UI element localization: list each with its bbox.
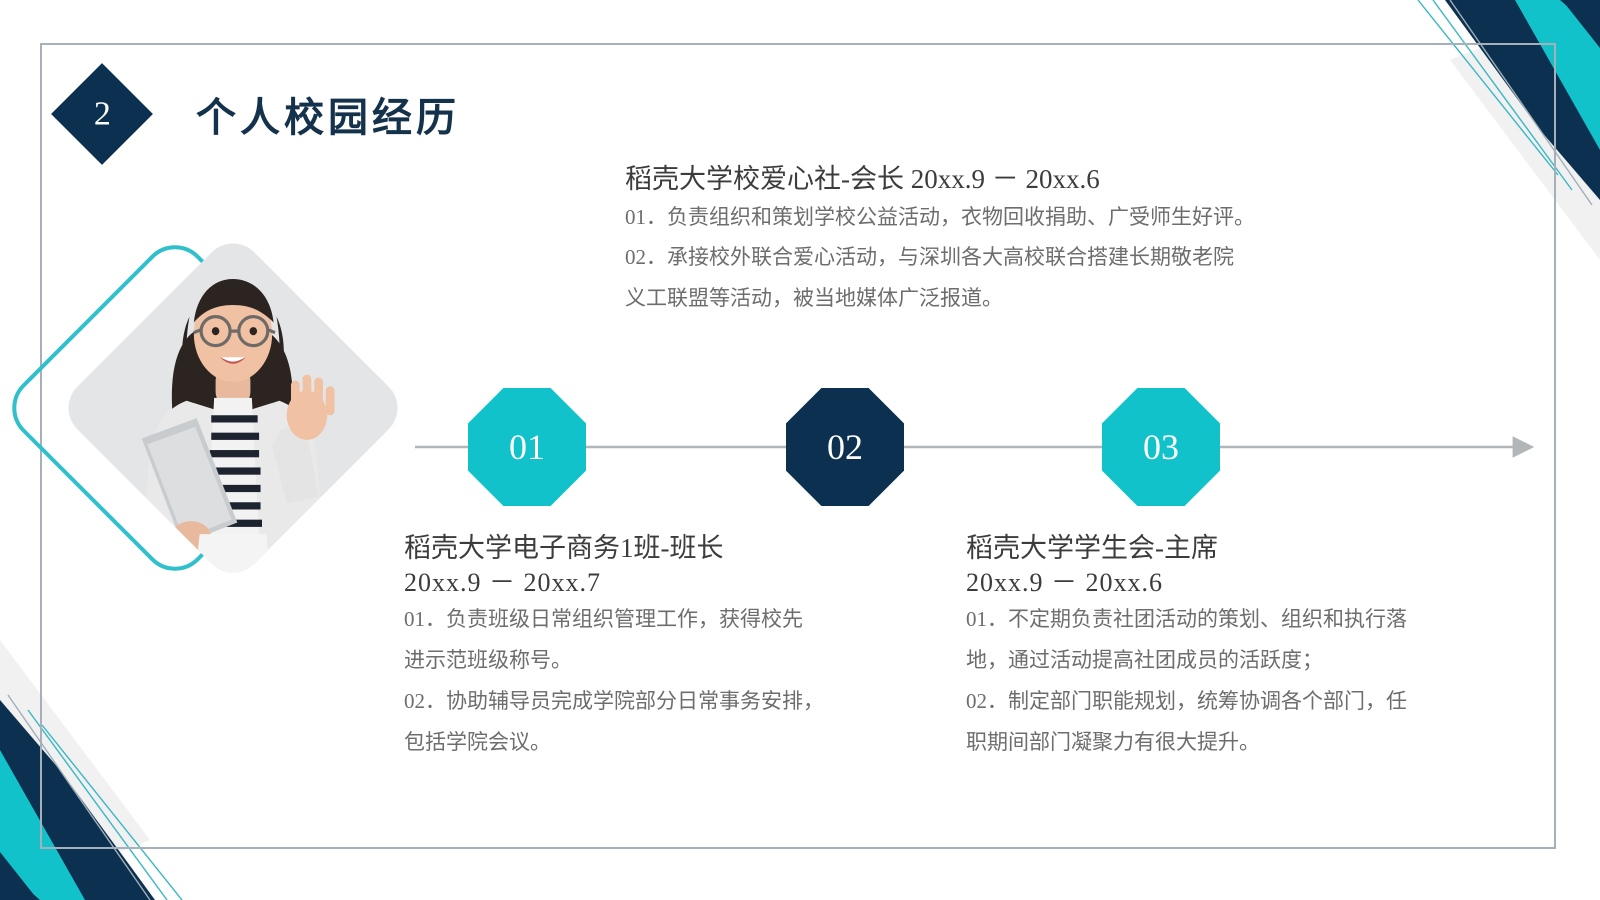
- profile-photo-image: [56, 231, 410, 585]
- experience-left-line-1: 01．负责班级日常组织管理工作，获得校先: [404, 599, 824, 640]
- profile-photo-frame: [56, 231, 410, 585]
- experience-top-line-2: 02．承接校外联合爱心活动，与深圳各大高校联合搭建长期敬老院: [625, 237, 1255, 278]
- experience-top-line-1: 01．负责组织和策划学校公益活动，衣物回收捐助、广受师生好评。: [625, 197, 1255, 238]
- timeline-marker-01-label: 01: [509, 426, 545, 468]
- timeline-marker-02[interactable]: 02: [786, 388, 904, 506]
- experience-left-line-4: 包括学院会议。: [404, 722, 824, 763]
- section-number-label: 2: [94, 97, 111, 131]
- timeline-marker-01[interactable]: 01: [468, 388, 586, 506]
- experience-left-date: 20xx.9 － 20xx.7: [404, 566, 824, 600]
- experience-right-title: 稻壳大学学生会-主席: [966, 531, 1407, 566]
- profile-photo-group: [42, 255, 422, 605]
- timeline-marker-02-label: 02: [827, 426, 863, 468]
- experience-block-top: 稻壳大学校爱心社-会长 20xx.9 － 20xx.6 01．负责组织和策划学校…: [625, 162, 1255, 319]
- experience-right-line-1: 01．不定期负责社团活动的策划、组织和执行落: [966, 599, 1407, 640]
- experience-right-line-3: 02．制定部门职能规划，统筹协调各个部门，任: [966, 681, 1407, 722]
- experience-block-right: 稻壳大学学生会-主席 20xx.9 － 20xx.6 01．不定期负责社团活动的…: [966, 531, 1407, 763]
- section-number-badge: 2: [51, 63, 153, 165]
- experience-left-title: 稻壳大学电子商务1班-班长: [404, 531, 824, 566]
- experience-top-line-3: 义工联盟等活动，被当地媒体广泛报道。: [625, 278, 1255, 319]
- slide-canvas: 2 个人校园经历: [0, 0, 1600, 900]
- experience-block-left: 稻壳大学电子商务1班-班长 20xx.9 － 20xx.7 01．负责班级日常组…: [404, 531, 824, 763]
- experience-right-line-2: 地，通过活动提高社团成员的活跃度；: [966, 640, 1407, 681]
- timeline-marker-03-label: 03: [1143, 426, 1179, 468]
- experience-left-line-3: 02．协助辅导员完成学院部分日常事务安排，: [404, 681, 824, 722]
- page-title: 个人校园经历: [196, 85, 460, 143]
- experience-right-line-4: 职期间部门凝聚力有很大提升。: [966, 722, 1407, 763]
- experience-left-line-2: 进示范班级称号。: [404, 640, 824, 681]
- experience-top-title: 稻壳大学校爱心社-会长 20xx.9 － 20xx.6: [625, 162, 1255, 197]
- experience-right-date: 20xx.9 － 20xx.6: [966, 566, 1407, 600]
- slide-header: 2 个人校园经历: [66, 78, 460, 150]
